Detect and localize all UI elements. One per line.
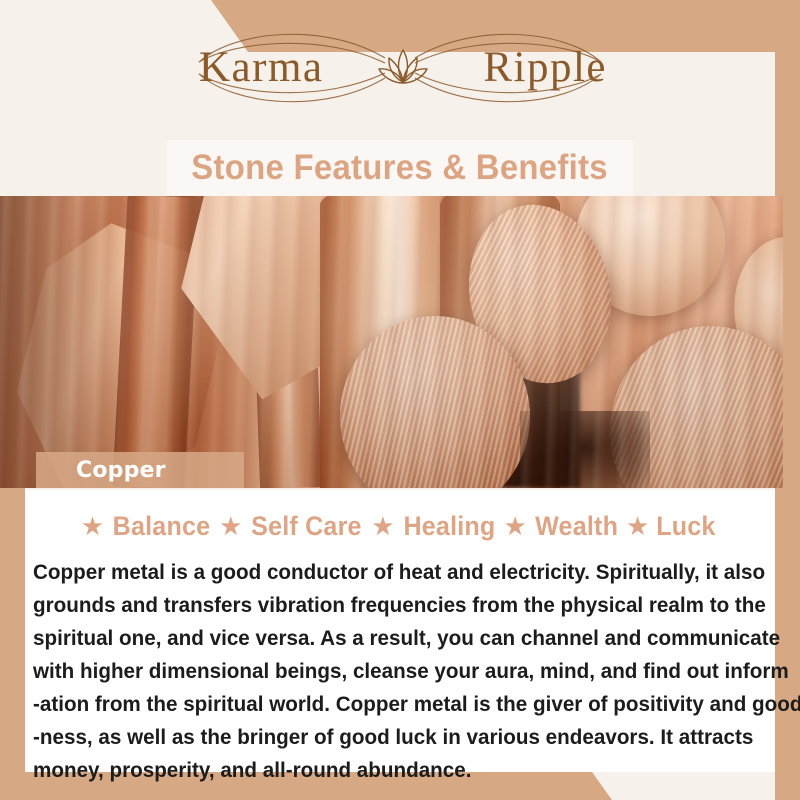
description-line: money, prosperity, and all-round abundan… — [33, 754, 743, 787]
star-icon: ★ — [502, 513, 529, 539]
star-icon: ★ — [624, 513, 651, 539]
lotus-flower-icon — [373, 46, 432, 90]
star-icon: ★ — [369, 513, 396, 539]
description-line: -ness, as well as the bringer of good lu… — [33, 721, 743, 754]
section-title-banner: Stone Features & Benefits — [167, 140, 633, 196]
description-line: Copper metal is a good conductor of heat… — [33, 556, 743, 589]
photo-caption-label: Copper — [36, 458, 166, 483]
logo-word-ripple: Ripple — [437, 46, 615, 89]
logo-word-karma: Karma — [185, 46, 369, 89]
star-icon: ★ — [79, 513, 106, 539]
benefit-label: Healing — [400, 511, 498, 542]
benefit-label: Luck — [654, 511, 719, 542]
benefit-item-healing: ★ Healing — [369, 511, 501, 542]
logo-inner: Karma Ripple — [185, 18, 615, 118]
copper-bars-photo — [0, 196, 783, 488]
benefits-list: ★ Balance ★ Self Care ★ Healing ★ Wealth… — [25, 505, 775, 547]
brand-logo: Karma Ripple — [0, 0, 800, 135]
description-line: spiritual one, and vice versa. As a resu… — [33, 622, 743, 655]
benefit-label: Self Care — [249, 511, 365, 542]
benefit-label: Wealth — [532, 511, 621, 542]
photo-caption-band: Copper — [36, 452, 244, 488]
page-title: Stone Features & Benefits — [192, 148, 609, 188]
benefit-item-balance: ★ Balance — [79, 511, 217, 542]
description-line: -ation from the spiritual world. Copper … — [33, 688, 743, 721]
benefit-item-luck: ★ Luck — [624, 511, 721, 542]
star-icon: ★ — [217, 513, 244, 539]
benefit-item-wealth: ★ Wealth — [502, 511, 625, 542]
benefit-label: Balance — [110, 511, 213, 542]
photo-glow-overlay — [0, 196, 783, 488]
benefit-item-self-care: ★ Self Care — [217, 511, 369, 542]
infographic-page: Karma Ripple — [0, 0, 800, 800]
description-text: Copper metal is a good conductor of heat… — [33, 556, 743, 787]
description-line: with higher dimensional beings, cleanse … — [33, 655, 743, 688]
logo-wordmark: Karma Ripple — [185, 46, 615, 90]
description-line: grounds and transfers vibration frequenc… — [33, 589, 743, 622]
